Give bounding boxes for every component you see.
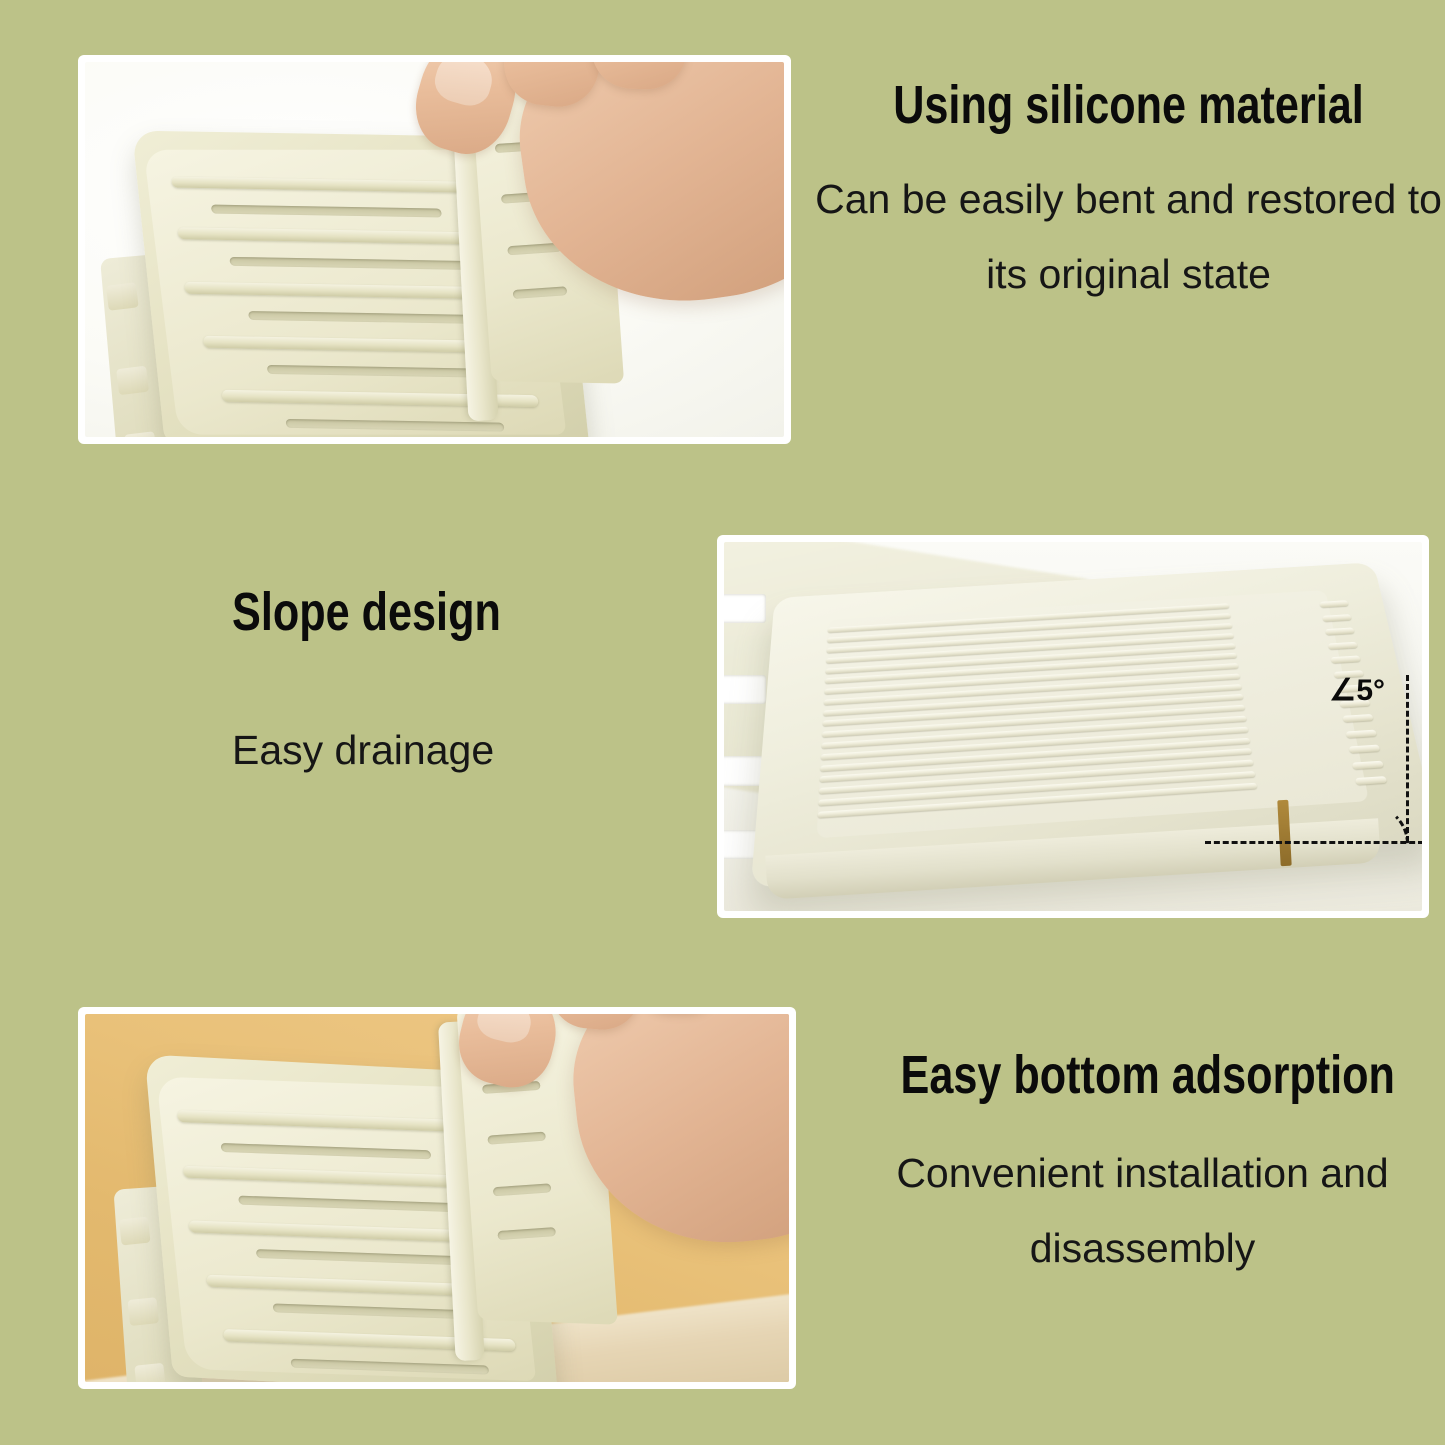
angle-label: ∠5° bbox=[1329, 673, 1385, 708]
feature-body-line-2: its original state bbox=[812, 237, 1445, 312]
feature-body-line-1: Can be easily bent and restored to bbox=[812, 162, 1445, 237]
feature-title: Slope design bbox=[232, 585, 608, 639]
tray-side-tab-1 bbox=[106, 282, 139, 311]
tray-side-tab-2 bbox=[127, 1298, 158, 1327]
photo-3-canvas bbox=[85, 1014, 789, 1382]
board-notch bbox=[724, 594, 766, 624]
hand bbox=[393, 62, 784, 317]
board-nub bbox=[1328, 641, 1358, 649]
hand bbox=[437, 1014, 789, 1242]
board-nub bbox=[1320, 600, 1349, 607]
feature-text-bottom-adsorption: Easy bottom adsorption Convenient instal… bbox=[840, 1048, 1445, 1285]
callout-vertical-dashed-line bbox=[1406, 675, 1409, 842]
tray-side-tab-1 bbox=[119, 1217, 150, 1246]
callout-angle-arc bbox=[1329, 804, 1409, 884]
feature-body: Convenient installation and disassembly bbox=[840, 1136, 1445, 1285]
tray-side-tab-3 bbox=[134, 1364, 165, 1382]
feature-body: Can be easily bent and restored to its o… bbox=[812, 162, 1445, 311]
feature-body: Easy drainage bbox=[232, 713, 702, 788]
hand-bending-tray-photo bbox=[78, 55, 791, 444]
sloped-drain-board-photo: ∠5° bbox=[717, 535, 1429, 918]
feature-title: Using silicone material bbox=[875, 78, 1381, 132]
feature-body-line-1: Convenient installation and bbox=[840, 1136, 1445, 1211]
feature-text-slope-design: Slope design Easy drainage bbox=[232, 585, 702, 788]
palm bbox=[562, 1014, 789, 1258]
board-nub bbox=[1322, 614, 1352, 622]
board-nub bbox=[1325, 627, 1355, 635]
photo-1-canvas bbox=[85, 62, 784, 437]
infographic-page: Using silicone material Can be easily be… bbox=[0, 0, 1445, 1445]
feature-body-line-1: Easy drainage bbox=[232, 713, 702, 788]
board-notch bbox=[724, 675, 766, 705]
feature-text-silicone-material: Using silicone material Can be easily be… bbox=[812, 78, 1445, 311]
photo-2-canvas: ∠5° bbox=[724, 542, 1422, 911]
feature-body-line-2: disassembly bbox=[840, 1211, 1445, 1286]
slope-angle-callout: ∠5° bbox=[1282, 675, 1415, 882]
feature-title: Easy bottom adsorption bbox=[901, 1048, 1385, 1102]
tray-on-wood-desk-photo bbox=[78, 1007, 796, 1389]
board-nub bbox=[1331, 655, 1361, 663]
tray-side-tab-2 bbox=[116, 366, 149, 395]
